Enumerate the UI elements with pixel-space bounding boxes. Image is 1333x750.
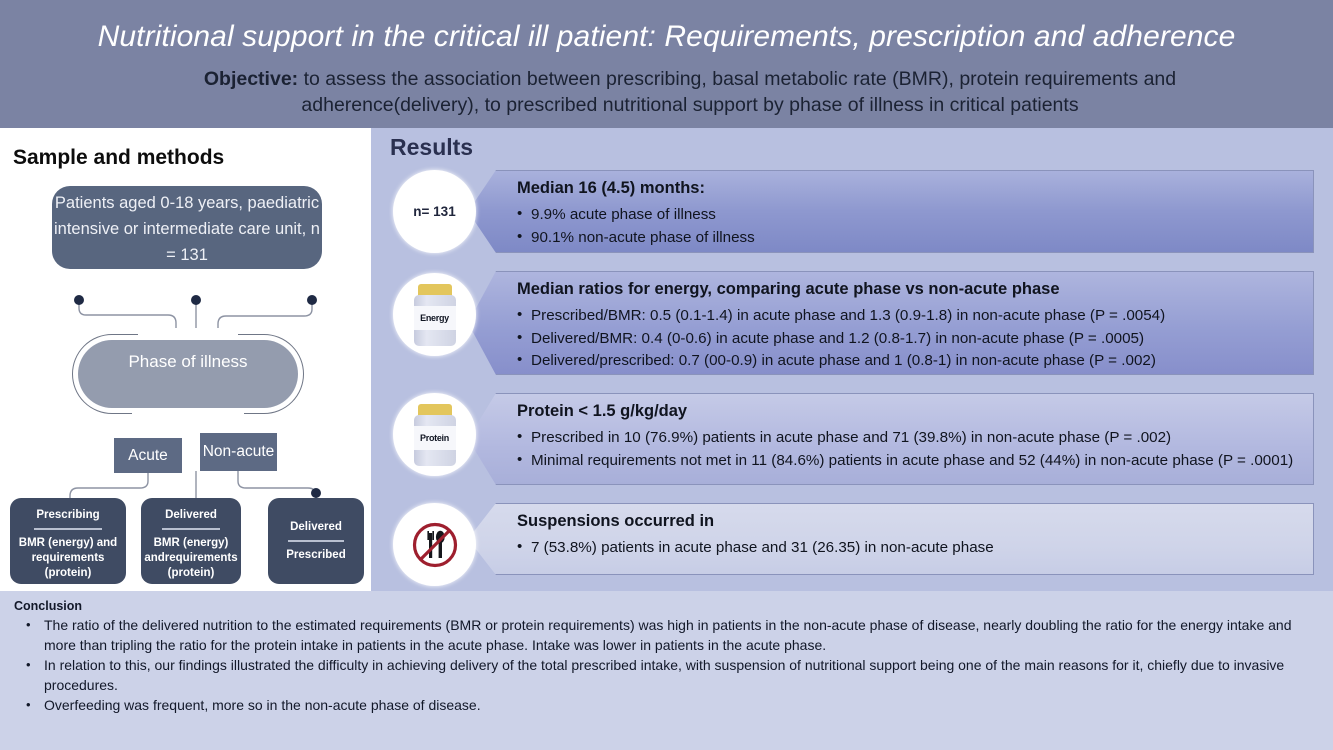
leaf-title: Prescribing — [10, 508, 126, 523]
energy-bottle-icon: Energy — [393, 273, 476, 356]
protein-bottle-icon: Protein — [393, 393, 476, 476]
leaf-body: Prescribed — [268, 548, 364, 563]
leaf-title: Delivered — [141, 508, 241, 523]
list-item: Overfeeding was frequent, more so in the… — [14, 696, 1319, 716]
graphical-abstract-poster: Nutritional support in the critical ill … — [0, 0, 1333, 750]
bottle-cap — [418, 284, 452, 296]
sample-and-methods-panel: Sample and methods Patients aged 0-18 ye… — [0, 128, 371, 591]
leaf-divider — [288, 540, 344, 542]
list-item: The ratio of the delivered nutrition to … — [14, 616, 1319, 655]
pill-bottle-shape: Energy — [412, 284, 458, 346]
results-title: Results — [390, 134, 473, 161]
result-banner-suspensions: Suspensions occurred in 7 (53.8%) patien… — [468, 503, 1314, 575]
sample-description-box: Patients aged 0-18 years, paediatric int… — [52, 186, 322, 269]
conclusion-list: The ratio of the delivered nutrition to … — [14, 616, 1319, 716]
list-item: Delivered/BMR: 0.4 (0-0.6) in acute phas… — [517, 328, 1313, 351]
phase-of-illness-node: Phase of illness — [78, 340, 298, 408]
methods-title: Sample and methods — [13, 146, 224, 170]
banner-title: Median ratios for energy, comparing acut… — [517, 280, 1313, 299]
no-food-glyph — [405, 515, 465, 575]
leaf-node-prescribing: Prescribing BMR (energy) and requirement… — [10, 498, 126, 584]
pill-bottle-shape: Protein — [412, 404, 458, 466]
page-title: Nutritional support in the critical ill … — [0, 20, 1333, 54]
banner-bullet-list: 7 (53.8%) patients in acute phase and 31… — [517, 537, 1313, 560]
leaf-body: BMR (energy) and requirements (protein) — [10, 536, 126, 581]
banner-title: Median 16 (4.5) months: — [517, 179, 1313, 198]
prohibition-slash — [420, 530, 449, 559]
branch-non-acute-node: Non-acute — [200, 433, 277, 471]
list-item: 90.1% non-acute phase of illness — [517, 227, 1313, 250]
objective-label: Objective: — [204, 68, 298, 90]
list-item: Minimal requirements not met in 11 (84.6… — [517, 450, 1313, 473]
result-banner-energy: Median ratios for energy, comparing acut… — [468, 271, 1314, 375]
list-item: Delivered/prescribed: 0.7 (00-0.9) in ac… — [517, 350, 1313, 373]
result-banner-protein: Protein < 1.5 g/kg/day Prescribed in 10 … — [468, 393, 1314, 485]
badge-label: n= 131 — [413, 204, 455, 219]
banner-title: Suspensions occurred in — [517, 512, 1313, 531]
list-item: Prescribed/BMR: 0.5 (0.1-1.4) in acute p… — [517, 305, 1313, 328]
objective-text: to assess the association between prescr… — [298, 68, 1176, 116]
leaf-title: Delivered — [268, 520, 364, 535]
bottle-cap — [418, 404, 452, 416]
banner-bullet-list: Prescribed in 10 (76.9%) patients in acu… — [517, 427, 1313, 472]
bottle-label: Protein — [414, 426, 456, 450]
leaf-node-delivered-bmr: Delivered BMR (energy) andrequirements (… — [141, 498, 241, 584]
leaf-body: BMR (energy) andrequirements (protein) — [141, 536, 241, 581]
poster-header: Nutritional support in the critical ill … — [0, 0, 1333, 128]
banner-title: Protein < 1.5 g/kg/day — [517, 402, 1313, 421]
phase-outline-gap-bottom — [132, 406, 244, 420]
banner-bullet-list: Prescribed/BMR: 0.5 (0.1-1.4) in acute p… — [517, 305, 1313, 373]
conclusion-title: Conclusion — [14, 599, 1319, 613]
list-item: Prescribed in 10 (76.9%) patients in acu… — [517, 427, 1313, 450]
branch-acute-node: Acute — [114, 438, 182, 473]
list-item: In relation to this, our findings illust… — [14, 656, 1319, 695]
objective-statement: Objective: to assess the association bet… — [130, 66, 1250, 118]
list-item: 7 (53.8%) patients in acute phase and 31… — [517, 537, 1313, 560]
no-food-suspension-icon — [393, 503, 476, 586]
leaf-divider — [34, 528, 101, 530]
leaf-node-delivered-prescribed: Delivered Prescribed — [268, 498, 364, 584]
leaf-divider — [162, 528, 220, 530]
results-panel: Results n= 131 Median 16 (4.5) months: 9… — [371, 128, 1333, 591]
conclusion-panel: Conclusion The ratio of the delivered nu… — [0, 591, 1333, 750]
list-item: 9.9% acute phase of illness — [517, 204, 1313, 227]
sample-size-badge: n= 131 — [393, 170, 476, 253]
result-banner-demographics: Median 16 (4.5) months: 9.9% acute phase… — [468, 170, 1314, 253]
bottle-label: Energy — [414, 306, 456, 330]
banner-bullet-list: 9.9% acute phase of illness 90.1% non-ac… — [517, 204, 1313, 249]
